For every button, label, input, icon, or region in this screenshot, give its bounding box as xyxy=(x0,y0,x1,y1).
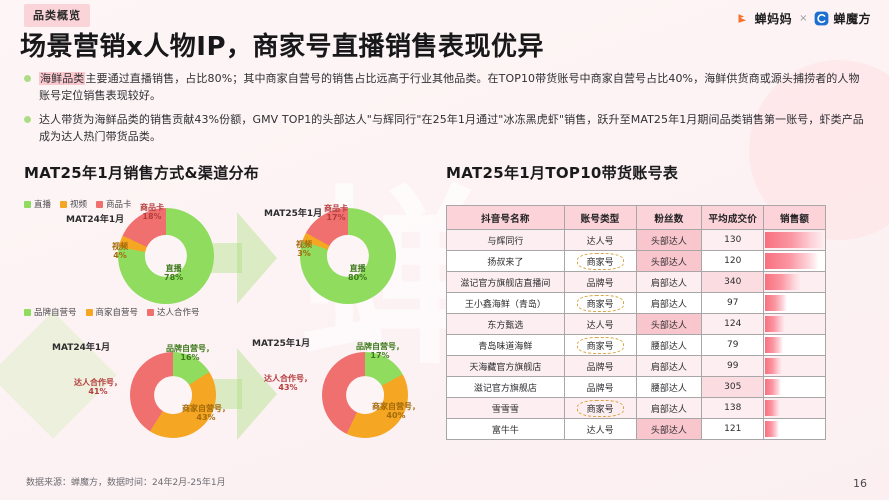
donut-ring xyxy=(118,208,214,304)
cell-sales-bar xyxy=(764,314,826,335)
donut-ring xyxy=(322,352,408,438)
legend-label-live: 直播 xyxy=(34,198,51,210)
cell-avg-price: 124 xyxy=(702,314,764,335)
sales-bar xyxy=(765,316,785,332)
sales-bar xyxy=(765,337,783,353)
table-row[interactable]: 滋记官方旗舰店品牌号腰部达人305 xyxy=(447,377,826,398)
cell-account-name: 王小鑫海鲜（青岛） xyxy=(447,293,565,314)
cell-account-type: 品牌号 xyxy=(564,356,636,377)
brand-chanmama: 蝉妈妈 xyxy=(736,10,793,27)
bullet-item: 达人带货为海鲜品类的销售贡献43%份额，GMV TOP1的头部达人"与辉同行"在… xyxy=(24,111,869,145)
cell-avg-price: 79 xyxy=(702,335,764,356)
cell-avg-price: 130 xyxy=(702,230,764,251)
cell-fans-tier: 头部达人 xyxy=(636,251,702,272)
table-row[interactable]: 东方甄选达人号头部达人124 xyxy=(447,314,826,335)
donut-caption: MAT25年1月 xyxy=(264,206,322,219)
cell-avg-price: 305 xyxy=(702,377,764,398)
bullet-dot-icon xyxy=(24,116,31,123)
legend-item-live: 直播 xyxy=(24,198,51,210)
brand-chanmofang: 蝉魔方 xyxy=(814,10,871,27)
table-row[interactable]: 富牛牛达人号头部达人121 xyxy=(447,419,826,440)
brand-logos: 蝉妈妈 × 蝉魔方 xyxy=(736,10,871,27)
table-row[interactable]: 雪雪雪商家号肩部达人138 xyxy=(447,398,826,419)
legend-item-video: 视频 xyxy=(60,198,87,210)
cell-account-type: 商家号 xyxy=(564,251,636,272)
donut-label-product-card: 商品卡17% xyxy=(324,204,348,222)
donut-label-live: 直播78% xyxy=(164,264,183,282)
highlight-circle-annotation: 商家号 xyxy=(577,400,624,417)
donut-caption: MAT24年1月 xyxy=(52,340,110,353)
table-row[interactable]: 滋记官方旗舰店直播间品牌号肩部达人340 xyxy=(447,272,826,293)
cell-fans-tier: 腰部达人 xyxy=(636,335,702,356)
bullet-dot-icon xyxy=(24,75,31,82)
highlight-circle-annotation: 商家号 xyxy=(577,295,624,312)
cell-account-name: 青岛味道海鲜 xyxy=(447,335,565,356)
table-body: 与辉同行达人号头部达人130扬叔来了商家号头部达人120滋记官方旗舰店直播间品牌… xyxy=(447,230,826,440)
cell-sales-bar xyxy=(764,335,826,356)
donut-label-brand-account: 品牌自营号，17% xyxy=(356,342,404,360)
col-header-sales: 销售额 xyxy=(764,206,826,230)
account-legend: 品牌自营号 商家自营号 达人合作号 xyxy=(24,306,200,318)
col-header-fans: 粉丝数 xyxy=(636,206,702,230)
cell-account-name: 东方甄选 xyxy=(447,314,565,335)
brand-separator: × xyxy=(799,13,807,24)
table-row[interactable]: 扬叔来了商家号头部达人120 xyxy=(447,251,826,272)
cell-avg-price: 97 xyxy=(702,293,764,314)
donut-ring xyxy=(300,208,396,304)
donut-label-video: 视频4% xyxy=(112,242,128,260)
cell-fans-tier: 头部达人 xyxy=(636,314,702,335)
bullet-item: 海鲜品类主要通过直播销售，占比80%；其中商家自营号的销售占比远高于行业其他品类… xyxy=(24,70,869,104)
cell-avg-price: 340 xyxy=(702,272,764,293)
col-header-name: 抖音号名称 xyxy=(447,206,565,230)
cell-sales-bar xyxy=(764,251,826,272)
donut-label-influencer-account: 达人合作号，43% xyxy=(264,374,312,392)
cell-fans-tier: 肩部达人 xyxy=(636,398,702,419)
cell-sales-bar xyxy=(764,272,826,293)
cell-fans-tier: 头部达人 xyxy=(636,230,702,251)
cell-account-type: 达人号 xyxy=(564,419,636,440)
donut-chart-channel-2024: MAT24年1月 直播78% 视频4% 商品卡18% xyxy=(118,208,214,304)
legend-swatch-merchant-account xyxy=(86,309,93,316)
highlight-circle-annotation: 商家号 xyxy=(577,337,624,354)
donut-label-influencer-account: 达人合作号，41% xyxy=(74,378,122,396)
arrow-head-top xyxy=(237,212,277,304)
data-source-note: 数据来源：蝉魔方，数据时间：24年2月-25年1月 xyxy=(26,475,226,488)
cell-sales-bar xyxy=(764,230,826,251)
legend-label-merchant-account: 商家自营号 xyxy=(96,306,139,318)
cell-account-type: 达人号 xyxy=(564,230,636,251)
cell-fans-tier: 头部达人 xyxy=(636,419,702,440)
insight-bullets: 海鲜品类主要通过直播销售，占比80%；其中商家自营号的销售占比远高于行业其他品类… xyxy=(24,70,869,152)
top10-accounts-table: 抖音号名称 账号类型 粉丝数 平均成交价 销售额 与辉同行达人号头部达人130扬… xyxy=(446,205,826,440)
legend-swatch-brand-account xyxy=(24,309,31,316)
chanmofang-logo-icon xyxy=(814,11,829,26)
left-section-title: MAT25年1月销售方式&渠道分布 xyxy=(24,162,259,183)
cell-account-name: 雪雪雪 xyxy=(447,398,565,419)
legend-swatch-video xyxy=(60,201,67,208)
donut-caption: MAT25年1月 xyxy=(252,336,310,349)
bullet-rest: 主要通过直播销售，占比80%；其中商家自营号的销售占比远高于行业其他品类。在TO… xyxy=(39,72,860,102)
legend-label-brand-account: 品牌自营号 xyxy=(34,306,77,318)
right-section-title: MAT25年1月TOP10带货账号表 xyxy=(446,162,678,183)
legend-label-influencer-account: 达人合作号 xyxy=(157,306,200,318)
donut-label-live: 直播80% xyxy=(348,264,367,282)
donut-label-video: 视频3% xyxy=(296,240,312,258)
donut-chart-channel-2025: MAT25年1月 直播80% 视频3% 商品卡17% xyxy=(300,208,396,304)
cell-avg-price: 121 xyxy=(702,419,764,440)
donut-chart-account-2024: MAT24年1月 品牌自营号，16% 商家自营号，43% 达人合作号，41% xyxy=(130,352,216,438)
cell-account-name: 富牛牛 xyxy=(447,419,565,440)
cell-account-name: 滋记官方旗舰店直播间 xyxy=(447,272,565,293)
sales-bar xyxy=(765,253,819,269)
arrow-head-bottom xyxy=(237,348,277,440)
table-row[interactable]: 王小鑫海鲜（青岛）商家号肩部达人97 xyxy=(447,293,826,314)
sales-bar xyxy=(765,274,801,290)
table-row[interactable]: 青岛味道海鲜商家号腰部达人79 xyxy=(447,335,826,356)
legend-item-brand-account: 品牌自营号 xyxy=(24,306,77,318)
page-number: 16 xyxy=(853,477,867,490)
cell-account-type: 商家号 xyxy=(564,293,636,314)
sales-bar xyxy=(765,358,782,374)
cell-account-type: 品牌号 xyxy=(564,272,636,293)
table-header: 抖音号名称 账号类型 粉丝数 平均成交价 销售额 xyxy=(447,206,826,230)
bullet-text: 海鲜品类主要通过直播销售，占比80%；其中商家自营号的销售占比远高于行业其他品类… xyxy=(39,70,869,104)
sales-bar xyxy=(765,295,787,311)
donut-label-merchant-account: 商家自营号，40% xyxy=(372,402,420,420)
col-header-price: 平均成交价 xyxy=(702,206,764,230)
cell-account-name: 扬叔来了 xyxy=(447,251,565,272)
legend-swatch-product-card xyxy=(96,201,103,208)
cell-account-name: 与辉同行 xyxy=(447,230,565,251)
cell-sales-bar xyxy=(764,377,826,398)
highlight-circle-annotation: 商家号 xyxy=(577,253,624,270)
legend-item-merchant-account: 商家自营号 xyxy=(86,306,139,318)
table-row[interactable]: 天海藏官方旗舰店品牌号肩部达人99 xyxy=(447,356,826,377)
donut-label-merchant-account: 商家自营号，43% xyxy=(182,404,230,422)
cell-fans-tier: 肩部达人 xyxy=(636,272,702,293)
cell-avg-price: 120 xyxy=(702,251,764,272)
page-title: 场景营销x人物IP，商家号直播销售表现优异 xyxy=(20,26,544,63)
donut-label-brand-account: 品牌自营号，16% xyxy=(166,344,214,362)
cell-sales-bar xyxy=(764,356,826,377)
col-header-type: 账号类型 xyxy=(564,206,636,230)
cell-account-type: 商家号 xyxy=(564,398,636,419)
legend-swatch-live xyxy=(24,201,31,208)
cell-fans-tier: 肩部达人 xyxy=(636,356,702,377)
brand-chanmofang-label: 蝉魔方 xyxy=(833,10,871,27)
cell-sales-bar xyxy=(764,293,826,314)
sales-bar xyxy=(765,232,823,248)
donut-chart-account-2025: MAT25年1月 品牌自营号，17% 商家自营号，40% 达人合作号，43% xyxy=(322,352,408,438)
category-overview-tag: 品类概览 xyxy=(24,4,90,27)
donut-label-product-card: 商品卡18% xyxy=(140,203,164,221)
chanmama-logo-icon xyxy=(736,11,751,26)
cell-fans-tier: 腰部达人 xyxy=(636,377,702,398)
cell-account-name: 天海藏官方旗舰店 xyxy=(447,356,565,377)
sales-bar xyxy=(765,421,778,437)
cell-fans-tier: 肩部达人 xyxy=(636,293,702,314)
channel-legend: 直播 视频 商品卡 xyxy=(24,198,132,210)
cell-avg-price: 138 xyxy=(702,398,764,419)
cell-sales-bar xyxy=(764,419,826,440)
cell-account-type: 品牌号 xyxy=(564,377,636,398)
cell-account-type: 商家号 xyxy=(564,335,636,356)
sales-bar xyxy=(765,400,780,416)
legend-label-video: 视频 xyxy=(70,198,87,210)
legend-swatch-influencer-account xyxy=(147,309,154,316)
cell-account-type: 达人号 xyxy=(564,314,636,335)
cell-avg-price: 99 xyxy=(702,356,764,377)
sales-bar xyxy=(765,379,781,395)
donut-caption: MAT24年1月 xyxy=(66,212,124,225)
legend-item-influencer-account: 达人合作号 xyxy=(147,306,200,318)
table-header-row: 抖音号名称 账号类型 粉丝数 平均成交价 销售额 xyxy=(447,206,826,230)
donut-ring xyxy=(130,352,216,438)
cell-account-name: 滋记官方旗舰店 xyxy=(447,377,565,398)
brand-chanmama-label: 蝉妈妈 xyxy=(755,10,793,27)
bullet-text: 达人带货为海鲜品类的销售贡献43%份额，GMV TOP1的头部达人"与辉同行"在… xyxy=(39,111,869,145)
cell-sales-bar xyxy=(764,398,826,419)
table-row[interactable]: 与辉同行达人号头部达人130 xyxy=(447,230,826,251)
green-blob-shape xyxy=(0,311,117,438)
bullet-highlight: 海鲜品类 xyxy=(39,72,85,85)
